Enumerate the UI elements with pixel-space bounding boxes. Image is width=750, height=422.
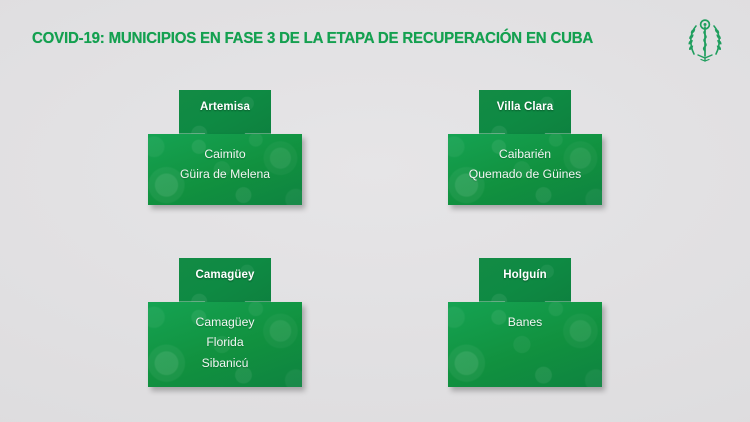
province-name: Artemisa (200, 101, 250, 113)
province-card-villa-clara[interactable]: Villa Clara Caibarién Quemado de Güines (448, 90, 602, 205)
municipality-list: Banes (448, 302, 602, 387)
province-name: Villa Clara (497, 101, 554, 113)
list-item: Quemado de Güines (469, 166, 581, 183)
municipality-list: Camagüey Florida Sibanicú (148, 302, 302, 387)
list-item: Caimito (204, 146, 245, 163)
list-item: Güira de Melena (180, 166, 270, 183)
province-card-grid: Artemisa Caimito Güira de Melena Villa C… (0, 0, 750, 422)
municipality-list: Caimito Güira de Melena (148, 134, 302, 205)
list-item: Banes (508, 314, 543, 331)
municipality-list: Caibarién Quemado de Güines (448, 134, 602, 205)
province-name: Camagüey (196, 269, 255, 281)
list-item: Caibarién (499, 146, 551, 163)
province-card-artemisa[interactable]: Artemisa Caimito Güira de Melena (148, 90, 302, 205)
list-item: Florida (206, 334, 243, 351)
province-card-holguin[interactable]: Holguín Banes (448, 258, 602, 387)
province-name: Holguín (503, 269, 547, 281)
list-item: Sibanicú (202, 355, 249, 372)
list-item: Camagüey (196, 314, 255, 331)
province-card-camaguey[interactable]: Camagüey Camagüey Florida Sibanicú (148, 258, 302, 387)
